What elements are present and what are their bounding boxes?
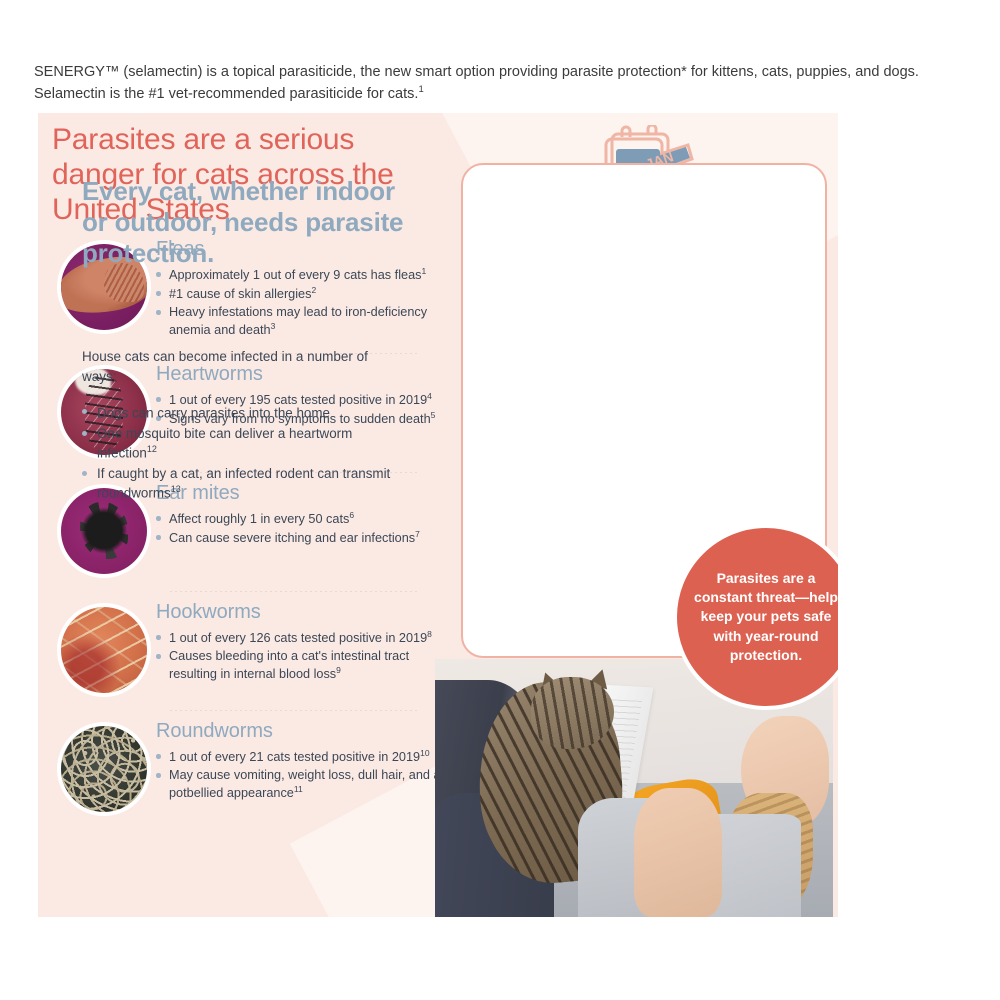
list-item: Dogs can carry parasites into the home [82, 403, 392, 423]
thumb-wrap-roundworms [52, 718, 156, 816]
bullet-text: #1 cause of skin allergies [169, 287, 311, 301]
footnote-marker: 13 [171, 484, 181, 494]
footnote-marker: 10 [420, 748, 429, 758]
list-item: May cause vomiting, weight loss, dull ha… [156, 767, 448, 802]
parasite-bullets-roundworms: 1 out of every 21 cats tested positive i… [156, 748, 448, 802]
list-item: #1 cause of skin allergies2 [156, 285, 448, 303]
footnote-marker: 8 [427, 629, 432, 639]
roundworm-photo [57, 722, 151, 816]
badge-text: Parasites are a constant threat—help kee… [691, 569, 838, 664]
list-item: Heavy infestations may lead to iron-defi… [156, 304, 448, 339]
card-heading: Every cat, whether indoor or outdoor, ne… [82, 176, 412, 270]
bullet-text: Dogs can carry parasites into the home [97, 405, 330, 420]
thumb-wrap-hookworms [52, 599, 156, 697]
list-item: 1 out of every 21 cats tested positive i… [156, 748, 448, 766]
footnote-marker: 4 [427, 391, 432, 401]
footnote-marker: 3 [271, 321, 276, 331]
footnote-marker: 5 [431, 410, 436, 420]
footnote-marker: 11 [294, 784, 303, 794]
parasite-row-hookworms: Hookworms 1 out of every 126 cats tested… [52, 599, 452, 703]
list-item: Can cause severe itching and ear infecti… [156, 529, 448, 547]
footnote-marker: 9 [336, 665, 341, 675]
list-item: One mosquito bite can deliver a heartwor… [82, 425, 392, 463]
parasite-bullets-fleas: Approximately 1 out of every 9 cats has … [156, 266, 448, 339]
intro-footnote-marker: 1 [418, 84, 423, 95]
list-item: Affect roughly 1 in every 50 cats6 [156, 510, 448, 528]
bullet-text: Heavy infestations may lead to iron-defi… [169, 305, 427, 337]
footnote-marker: 1 [421, 266, 426, 276]
bullet-text: Approximately 1 out of every 9 cats has … [169, 268, 421, 282]
list-item: Causes bleeding into a cat's intestinal … [156, 648, 448, 683]
section-divider [170, 591, 420, 592]
footnote-marker: 12 [147, 444, 157, 454]
parasite-bullets-hookworms: 1 out of every 126 cats tested positive … [156, 629, 448, 683]
parasite-title-roundworms: Roundworms [156, 720, 448, 742]
bullet-text: If caught by a cat, an infected rodent c… [97, 466, 390, 501]
bullet-text: Can cause severe itching and ear infecti… [169, 532, 415, 546]
parasite-row-roundworms: Roundworms 1 out of every 21 cats tested… [52, 718, 452, 822]
parasite-title-hookworms: Hookworms [156, 601, 448, 623]
card-subhead: House cats can become infected in a numb… [82, 347, 382, 386]
list-item: If caught by a cat, an infected rodent c… [82, 465, 392, 503]
parasite-list: Fleas Approximately 1 out of every 9 cat… [52, 236, 452, 822]
bullet-text: May cause vomiting, weight loss, dull ha… [169, 768, 441, 800]
bullet-text: 1 out of every 126 cats tested positive … [169, 632, 427, 646]
footnote-marker: 2 [311, 285, 316, 295]
bullet-text: One mosquito bite can deliver a heartwor… [97, 426, 352, 461]
card-bullets: Dogs can carry parasites into the home O… [82, 403, 392, 505]
infographic-panel: Parasites are a serious danger for cats … [38, 113, 838, 917]
bullet-text: 1 out of every 21 cats tested positive i… [169, 751, 420, 765]
footnote-marker: 6 [349, 510, 354, 520]
section-divider [170, 710, 420, 711]
hookworm-photo [57, 603, 151, 697]
intro-paragraph: SENERGY™ (selamectin) is a topical paras… [34, 62, 980, 105]
parasite-bullets-ear-mites: Affect roughly 1 in every 50 cats6 Can c… [156, 510, 448, 547]
intro-text: SENERGY™ (selamectin) is a topical paras… [34, 64, 919, 102]
footnote-marker: 7 [415, 529, 420, 539]
bullet-text: Causes bleeding into a cat's intestinal … [169, 649, 409, 681]
list-item: 1 out of every 126 cats tested positive … [156, 629, 448, 647]
bullet-text: Affect roughly 1 in every 50 cats [169, 513, 349, 527]
